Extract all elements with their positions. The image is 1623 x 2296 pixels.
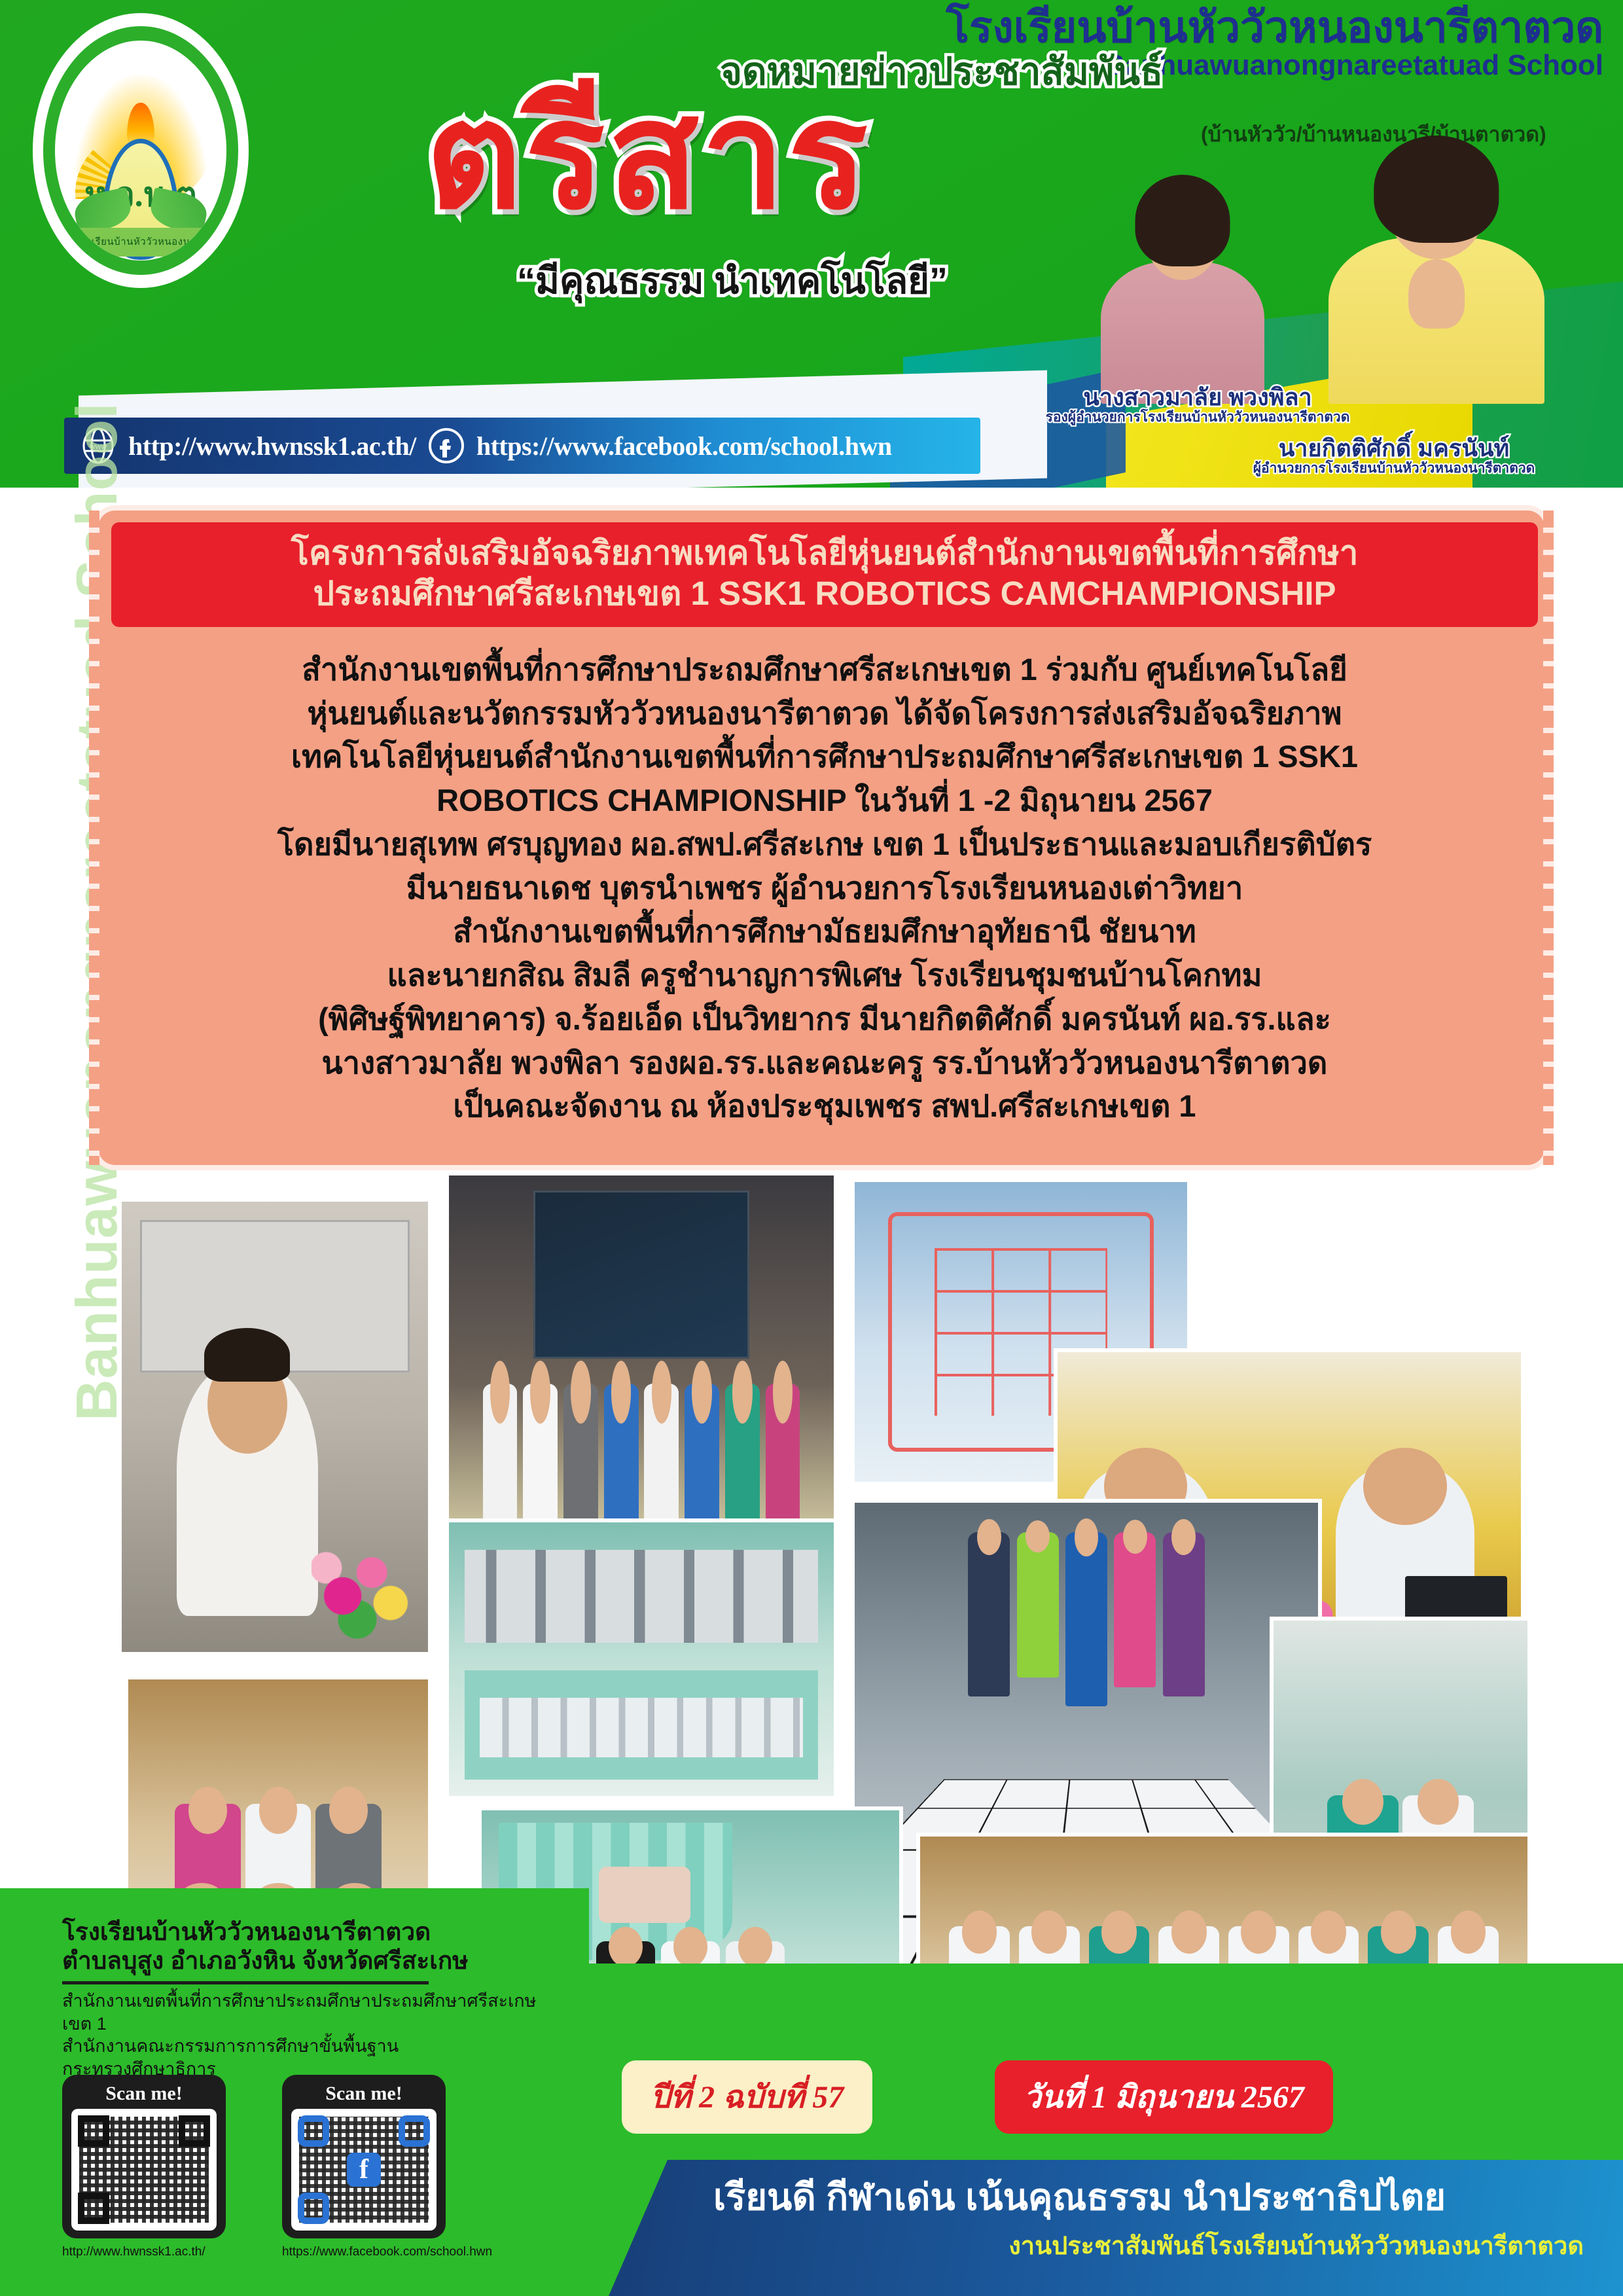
poster-header: ห.ว.น.ต โรงเรียนบ้านหัววัวหนองนารีตาตวด … — [0, 0, 1623, 488]
qr-code-icon — [71, 2109, 217, 2231]
portrait-body — [1101, 262, 1264, 404]
qr-code-facebook-icon: f — [291, 2109, 437, 2231]
footer-divider — [62, 1981, 429, 1984]
article-body-line: หุ่นยนต์และนวัตกรรมหัววัวหนองนารีตาตวด ไ… — [118, 692, 1531, 736]
qr-card-website[interactable]: Scan me! http://www.hwnssk1.ac.th/ — [62, 2075, 226, 2259]
footer-school-name: โรงเรียนบ้านหัววัวหนองนารีตาตวด — [62, 1918, 560, 1946]
portrait-director — [1329, 135, 1544, 404]
footer-motto-main: เรียนดี กีฬาเด่น เน้นคุณธรรม นำประชาธิปไ… — [713, 2177, 1584, 2217]
article-body-line: นางสาวมาลัย พวงพิลา รองผอ.รร.และคณะครู ร… — [118, 1041, 1531, 1085]
qr-url-facebook[interactable]: https://www.facebook.com/school.hwn — [282, 2245, 446, 2259]
crest-banner-label: โรงเรียนบ้านหัววัวหนองนารีตาตวด — [75, 228, 206, 257]
issue-badge: ปีที่ 2 ฉบับที่ 57 — [622, 2060, 872, 2134]
masthead-title: ตรีสาร — [425, 81, 870, 230]
qr-scan-label: Scan me! — [291, 2084, 437, 2104]
svg-text:www: www — [89, 442, 107, 451]
article-title-line-2: ประถมศึกษาศรีสะเกษเขต 1 SSK1 ROBOTICS CA… — [131, 573, 1518, 614]
qr-box-facebook[interactable]: Scan me! f — [282, 2075, 446, 2238]
article-body-line: เทคโนโลยีหุ่นยนต์สำนักงานเขตพื้นที่การศึ… — [118, 735, 1531, 779]
footer-motto-bar: เรียนดี กีฬาเด่น เน้นคุณธรรม นำประชาธิปไ… — [609, 2160, 1623, 2296]
article-body-line: สำนักงานเขตพื้นที่การศึกษาประถมศึกษาศรีส… — [118, 648, 1531, 692]
qr-url-website[interactable]: http://www.hwnssk1.ac.th/ — [62, 2245, 226, 2259]
qr-code-group: Scan me! http://www.hwnssk1.ac.th/ Scan … — [62, 2075, 533, 2259]
article-body-line: มีนายธนาเดช บุตรนำเพชร ผู้อำนวยการโรงเรี… — [118, 867, 1531, 910]
photo-training-room — [445, 1518, 838, 1800]
links-bar: www http://www.hwnssk1.ac.th/ https://ww… — [64, 418, 980, 474]
date-badge: วันที่ 1 มิถุนายน 2567 — [995, 2060, 1333, 2134]
globe-www-icon: www — [80, 427, 116, 464]
website-url[interactable]: http://www.hwnssk1.ac.th/ — [128, 431, 416, 461]
facebook-icon — [428, 427, 465, 464]
article-title-banner: โครงการส่งเสริมอัจฉริยภาพเทคโนโลยีหุ่นยน… — [111, 522, 1538, 627]
portrait-wai-hands — [1408, 259, 1465, 329]
footer-org-line-1: สำนักงานเขตพื้นที่การศึกษาประถมศึกษาประถ… — [62, 1990, 560, 2035]
qr-scan-label: Scan me! — [71, 2084, 217, 2104]
director-name: นายกิตติศักดิ์ มครนันท์ — [1185, 436, 1603, 461]
caption-director: นายกิตติศักดิ์ มครนันท์ ผู้อำนวยการโรงเร… — [1185, 436, 1603, 476]
qr-card-facebook[interactable]: Scan me! f https://www.facebook.com/scho… — [282, 2075, 446, 2259]
footer-address-block: โรงเรียนบ้านหัววัวหนองนารีตาตวด ตำบลบุสู… — [62, 1918, 560, 2081]
school-crest-logo: ห.ว.น.ต โรงเรียนบ้านหัววัวหนองนารีตาตวด — [33, 13, 249, 288]
facebook-url[interactable]: https://www.facebook.com/school.hwn — [476, 431, 892, 461]
director-role: ผู้อำนวยการโรงเรียนบ้านหัววัวหนองนารีตาต… — [1185, 461, 1603, 476]
portrait-deputy-director — [1101, 175, 1264, 404]
article-body-line: เป็นคณะจัดงาน ณ ห้องประชุมเพชร สพป.ศรีสะ… — [118, 1085, 1531, 1128]
crest-ring-inner: ห.ว.น.ต โรงเรียนบ้านหัววัวหนองนารีตาตวด — [55, 41, 226, 260]
article-body-line: สำนักงานเขตพื้นที่การศึกษามัธยมศึกษาอุทั… — [118, 910, 1531, 954]
photo-director-speaking — [118, 1198, 432, 1656]
article-body-line: (พิศิษฐ์พิทยาคาร) จ.ร้อยเอ็ด เป็นวิทยากร… — [118, 997, 1531, 1041]
article-body-line: และนายกสิณ สิมลี ครูชำนาญการพิเศษ โรงเรี… — [118, 954, 1531, 997]
masthead-motto: “มีคุณธรรม นำเทคโนโลยี” — [517, 251, 948, 310]
footer-motto-sub: งานประชาสัมพันธ์โรงเรียนบ้านหัววัวหนองนา… — [713, 2225, 1584, 2265]
qr-box-website[interactable]: Scan me! — [62, 2075, 226, 2238]
newsletter-poster: ห.ว.น.ต โรงเรียนบ้านหัววัวหนองนารีตาตวด … — [0, 0, 1623, 2296]
portrait-hair-top — [1135, 175, 1230, 266]
article-body: สำนักงานเขตพื้นที่การศึกษาประถมศึกษาศรีส… — [118, 648, 1531, 1128]
article-body-line: ROBOTICS CHAMPIONSHIP ในวันที่ 1 -2 มิถุ… — [118, 779, 1531, 823]
footer-school-address: ตำบลบุสูง อำเภอวังหิน จังหวัดศรีสะเกษ — [62, 1946, 560, 1975]
deputy-director-role: รองผู้อำนวยการโรงเรียนบ้านหัววัวหนองนารี… — [988, 410, 1407, 425]
portrait-hair-top — [1374, 135, 1499, 243]
facebook-glyph-icon: f — [347, 2153, 381, 2187]
footer-org-line-2: สำนักงานคณะกรรมการการศึกษาขั้นพื้นฐาน — [62, 2035, 560, 2058]
article-title-line-1: โครงการส่งเสริมอัจฉริยภาพเทคโนโลยีหุ่นยน… — [131, 533, 1518, 573]
article-body-line: โดยมีนายสุเทพ ศรบุญทอง ผอ.สพป.ศรีสะเกษ เ… — [118, 823, 1531, 867]
